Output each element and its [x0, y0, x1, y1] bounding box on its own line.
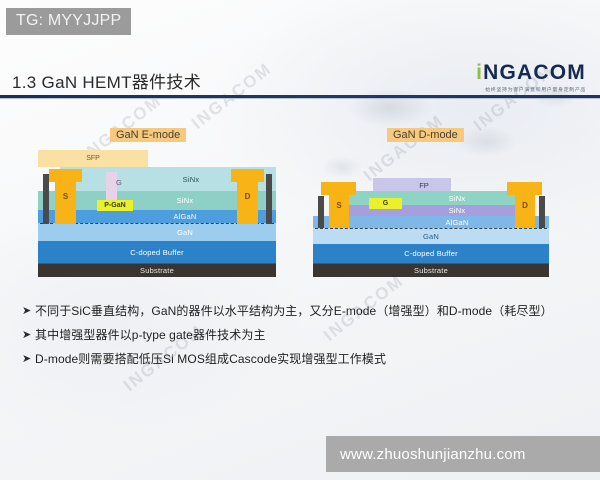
layer-label: Substrate	[140, 266, 174, 275]
sfp-label: SFP	[86, 155, 100, 162]
source-label: S	[63, 192, 68, 201]
p-gan-label: P-GaN	[104, 202, 125, 209]
gate-block[interactable]: G	[369, 198, 402, 209]
layer-gan: GaN	[38, 223, 276, 241]
page-title: 1.3 GaN HEMT器件技术	[12, 68, 201, 93]
source-electrode[interactable]: S	[55, 169, 76, 224]
layer-substrate: Substrate	[313, 263, 549, 277]
source-label: S	[336, 201, 341, 210]
layer-label: AlGaN	[173, 212, 196, 221]
layer-label: C-doped Buffer	[130, 248, 184, 257]
layer-label: SiNx	[449, 206, 466, 215]
drain-label: D	[245, 192, 251, 201]
layer-substrate: Substrate	[38, 263, 276, 277]
layer-gan: GaN	[313, 228, 549, 244]
gate-label: G	[383, 200, 388, 207]
diagram-e-mode: GaN E-mode SFP SiNx SiNx AlGaN GaN C-dop…	[38, 128, 276, 273]
layer-label: GaN	[177, 228, 193, 237]
right-edge-termination	[539, 196, 545, 228]
layer-label: Substrate	[414, 266, 448, 275]
title-divider-hairline	[0, 98, 600, 99]
diagram-e-mode-label: GaN E-mode	[110, 128, 186, 142]
bullet-arrow-icon: ➤	[22, 327, 35, 344]
layer-label: GaN	[423, 232, 439, 241]
left-edge-termination	[318, 196, 324, 228]
diagram-d-mode-label: GaN D-mode	[387, 128, 464, 142]
footer-url: www.zhuoshunjianzhu.com	[326, 446, 526, 463]
bullet-list: ➤ 不同于SiC垂直结构，GaN的器件以水平结构为主，又分E-mode（增强型）…	[22, 303, 588, 375]
tg-badge: TG: MYYJJPP	[6, 8, 131, 35]
bullet-text: 不同于SiC垂直结构，GaN的器件以水平结构为主，又分E-mode（增强型）和D…	[35, 303, 553, 320]
gate-label: G	[116, 178, 122, 187]
right-edge-termination	[266, 174, 272, 224]
sfp-field-plate: SFP	[38, 150, 148, 167]
layer-sinx-lower: SiNx	[335, 205, 527, 216]
bullet-item: ➤ D-mode则需要搭配低压Si MOS组成Cascode实现增强型工作模式	[22, 351, 588, 368]
footer-watermark-bar: www.zhuoshunjianzhu.com	[326, 436, 600, 472]
slide-canvas: INGACOM INGACOM INGACOM INGACOM INGACOM …	[0, 0, 600, 480]
diagram-d-mode: GaN D-mode FP SiNx SiNx AlGaN GaN C-dope…	[313, 128, 549, 273]
drain-electrode[interactable]: D	[515, 182, 535, 228]
layer-c-doped-buffer: C-doped Buffer	[313, 244, 549, 263]
p-gan-block[interactable]: P-GaN	[97, 200, 133, 211]
drain-label: D	[522, 201, 528, 210]
bullet-text: 其中增强型器件以p-type gate器件技术为主	[35, 327, 266, 344]
bullet-arrow-icon: ➤	[22, 303, 35, 320]
layer-label: SiNx	[183, 175, 200, 184]
brand-logo: iNGACOM 始终坚持为客户满意和用户量身定制产品	[476, 62, 586, 93]
layer-label: C-doped Buffer	[404, 249, 458, 258]
two-deg-channel-line	[315, 228, 547, 229]
layer-c-doped-buffer: C-doped Buffer	[38, 241, 276, 263]
source-electrode[interactable]: S	[329, 182, 349, 228]
logo-tagline: 始终坚持为客户满意和用户量身定制产品	[476, 86, 586, 93]
layer-label: SiNx	[449, 194, 466, 203]
bullet-text: D-mode则需要搭配低压Si MOS组成Cascode实现增强型工作模式	[35, 351, 386, 368]
layer-label: SiNx	[177, 196, 194, 205]
layer-label: AlGaN	[445, 218, 468, 227]
bullet-item: ➤ 不同于SiC垂直结构，GaN的器件以水平结构为主，又分E-mode（增强型）…	[22, 303, 588, 320]
bullet-arrow-icon: ➤	[22, 351, 35, 368]
logo-wordmark: iNGACOM	[476, 62, 586, 83]
drain-electrode[interactable]: D	[237, 169, 258, 224]
bullet-item: ➤ 其中增强型器件以p-type gate器件技术为主	[22, 327, 588, 344]
layer-sinx-upper: SiNx	[335, 191, 527, 205]
fp-label: FP	[419, 181, 429, 190]
